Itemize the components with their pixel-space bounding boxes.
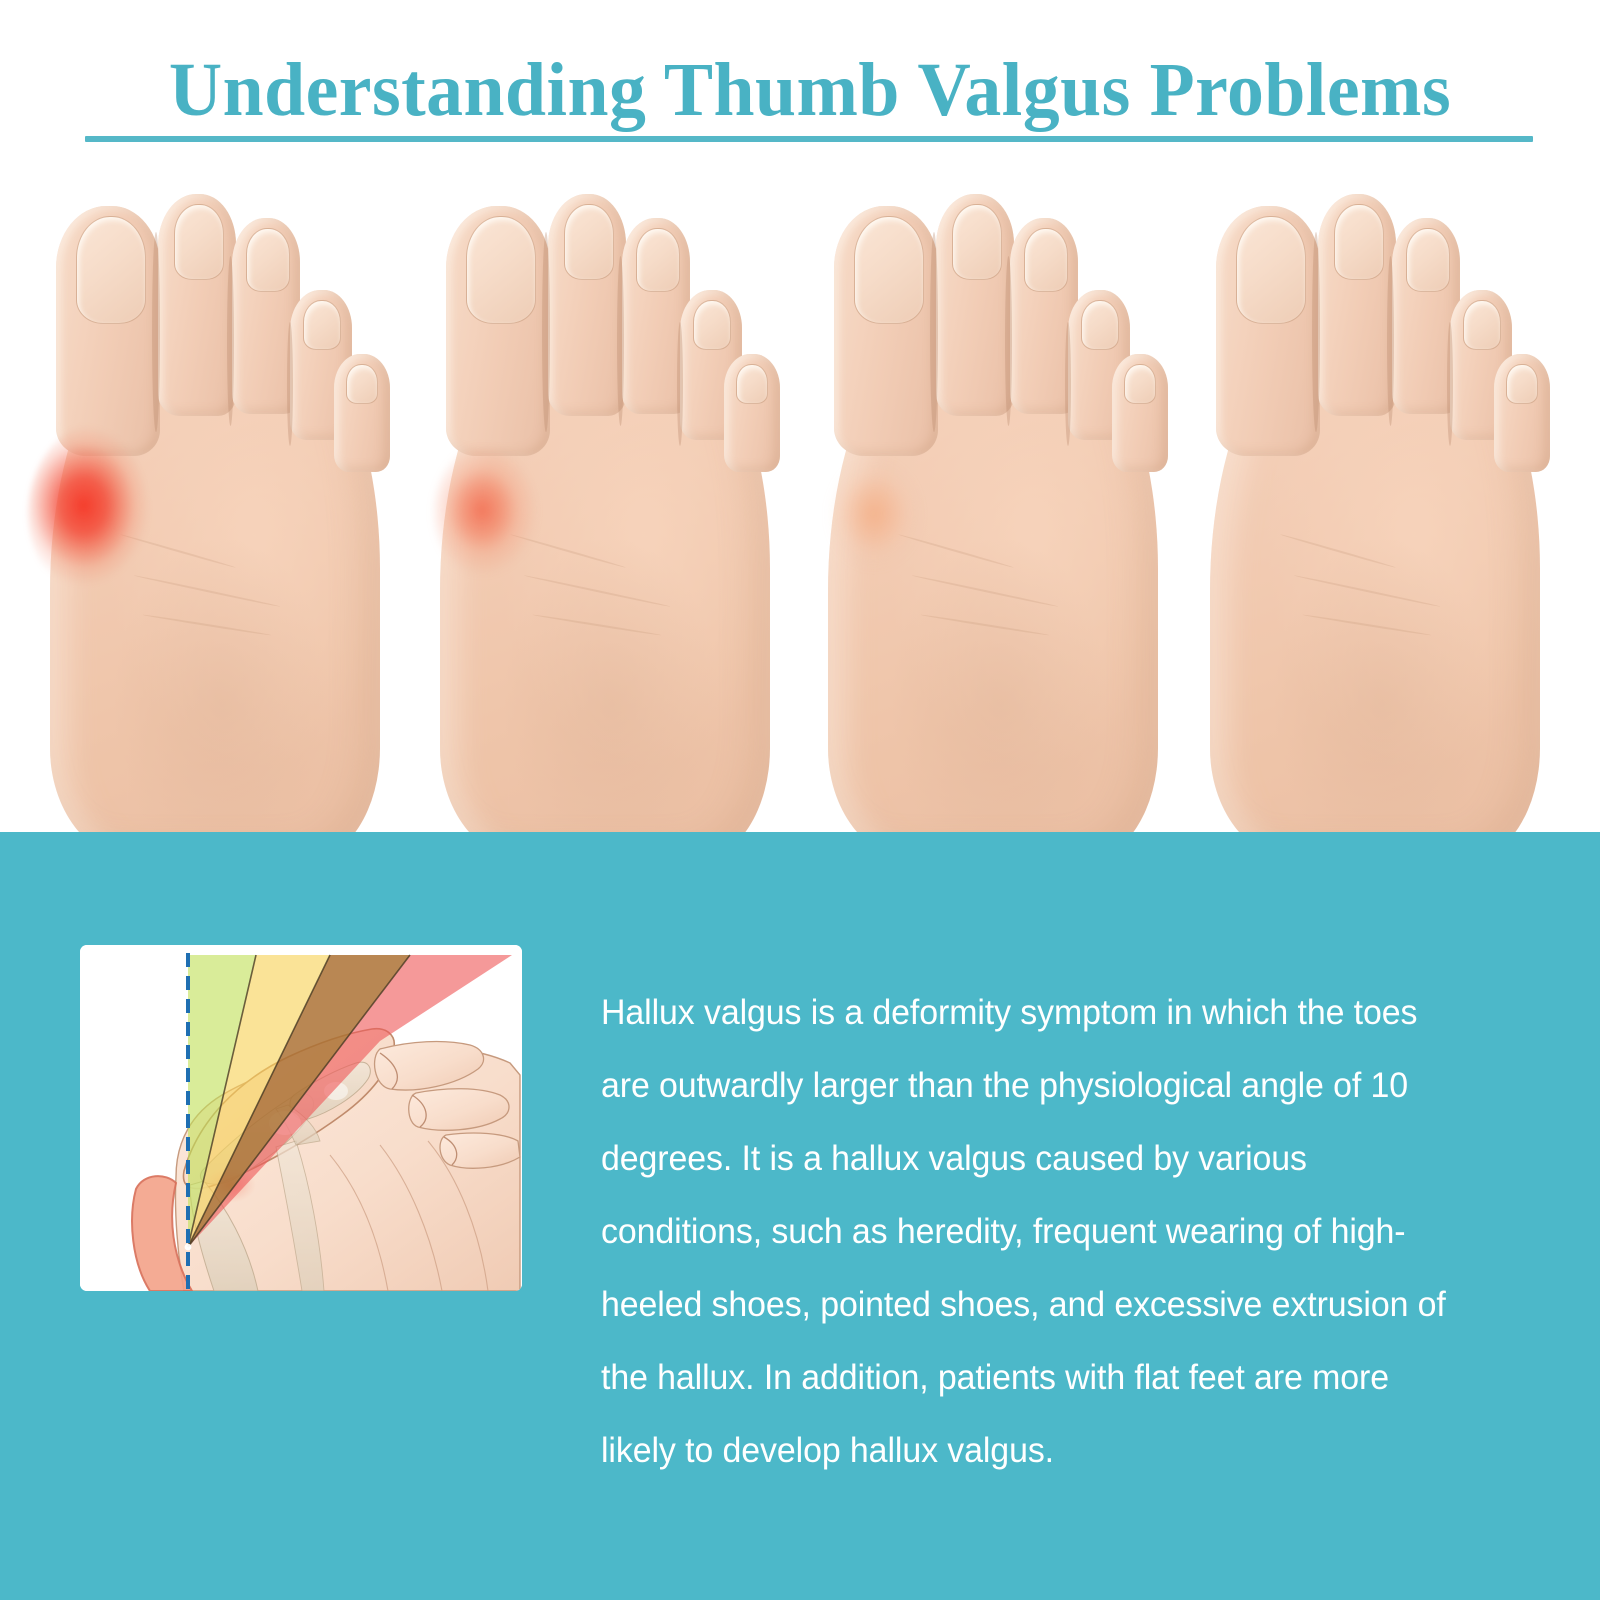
second-toe-nail: [952, 204, 1002, 280]
info-panel: Hallux valgus is a deformity symptom in …: [0, 832, 1600, 1600]
hallux-valgus-angle-diagram: [80, 945, 522, 1291]
title-underline-rule: [85, 136, 1533, 142]
foot-photo-severe: [22, 172, 422, 832]
big-toe-nail: [76, 216, 146, 324]
bunion-inflammation: [434, 438, 554, 588]
fifth-toe-nail: [1124, 364, 1156, 404]
fourth-toe-nail: [303, 300, 341, 350]
big-toe-nail: [466, 216, 536, 324]
third-toe-nail: [636, 228, 680, 292]
foot-photo-normal: [1182, 172, 1582, 832]
page-title: Understanding Thumb Valgus Problems: [106, 46, 1514, 134]
toe-gap: [1312, 232, 1320, 432]
toe-gap: [287, 322, 293, 446]
third-toe-nail: [1024, 228, 1068, 292]
third-toe-nail: [1406, 228, 1450, 292]
toe-gap: [930, 232, 938, 432]
bunion-inflammation: [28, 420, 174, 606]
third-toe-nail: [246, 228, 290, 292]
toe-gap: [677, 322, 683, 446]
toe-gap: [152, 232, 160, 432]
toe-gap: [542, 232, 550, 432]
fourth-toe-nail: [1463, 300, 1501, 350]
second-toe-nail: [174, 204, 224, 280]
bunion-inflammation: [830, 452, 934, 580]
article-paragraph: Hallux valgus is a deformity symptom in …: [601, 976, 1461, 1487]
foot-photo-mild: [800, 172, 1200, 832]
angle-diagram-svg: [80, 945, 522, 1291]
page-header: Understanding Thumb Valgus Problems: [0, 0, 1600, 172]
toe-gap: [227, 256, 234, 426]
second-toe-nail: [1334, 204, 1384, 280]
foot-photo-moderate: [412, 172, 812, 832]
fifth-toe-nail: [1506, 364, 1538, 404]
angle-vertex: [185, 1244, 192, 1251]
fifth-toe-nail: [346, 364, 378, 404]
toe-gap: [1387, 256, 1394, 426]
toe-gap: [1005, 256, 1012, 426]
toe-gap: [1065, 322, 1071, 446]
fifth-toe-nail: [736, 364, 768, 404]
big-toe-nail: [1236, 216, 1306, 324]
big-toe-nail: [854, 216, 924, 324]
fourth-toe-nail: [693, 300, 731, 350]
toe-gap: [617, 256, 624, 426]
fourth-toe-nail: [1081, 300, 1119, 350]
foot-photo-strip: [0, 172, 1600, 832]
second-toe-nail: [564, 204, 614, 280]
toe-gap: [1447, 322, 1453, 446]
